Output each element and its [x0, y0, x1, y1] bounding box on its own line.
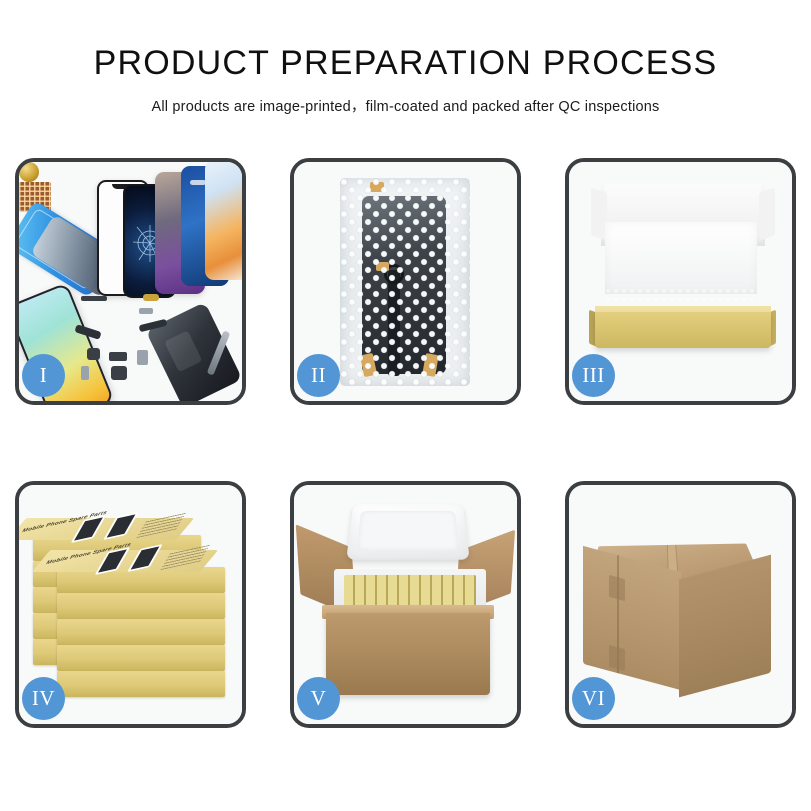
page-subtitle: All products are image-printed，film-coat… — [0, 95, 811, 116]
process-step-grid: I II — [15, 158, 797, 728]
speaker-module-icon — [111, 366, 127, 380]
battery-connector-icon — [81, 366, 89, 380]
step-badge-6: VI — [572, 677, 615, 720]
stacked-box-front-5 — [57, 671, 225, 697]
bubble-wrap-bag-icon — [340, 178, 470, 386]
step-badge-2: II — [297, 354, 340, 397]
phone-back-housing-icon — [145, 302, 242, 401]
small-connector-icon — [139, 308, 153, 314]
box-lid-face: Mobile Phone Spare Parts — [19, 518, 194, 540]
process-step-panel-3: III — [565, 158, 796, 405]
box-front-gold-icon — [595, 312, 771, 348]
step-badge-5: V — [297, 677, 340, 720]
step-badge-4: IV — [22, 677, 65, 720]
header: PRODUCT PREPARATION PROCESS All products… — [0, 0, 811, 116]
carton-right-face-icon — [679, 555, 771, 698]
phone-display-orange-icon — [205, 162, 242, 280]
carton-tab-lower — [609, 645, 625, 671]
stacked-box-front-3 — [57, 619, 225, 645]
foam-lid-icon — [346, 504, 470, 560]
box-screen-image-2 — [103, 512, 139, 540]
process-step-panel-1: I — [15, 158, 246, 405]
stacked-box-front-4 — [57, 645, 225, 671]
gold-connector-icon — [143, 294, 159, 301]
page-title: PRODUCT PREPARATION PROCESS — [0, 44, 811, 83]
camera-module-icon — [87, 348, 100, 360]
carton-tab-upper — [609, 575, 625, 601]
stacked-box-front-1: Mobile Phone Spare Parts — [57, 567, 225, 593]
gold-box-stack-icon: Mobile Phone Spare Parts Mobile Phone Sp… — [33, 515, 233, 705]
vibration-motor-icon — [137, 350, 148, 365]
process-step-panel-6: VI — [565, 481, 796, 728]
carton-body-icon — [326, 613, 490, 695]
connector-strip-icon — [81, 296, 107, 301]
box-spec-lines — [136, 512, 186, 538]
speaker-ring-icon — [19, 162, 39, 182]
step-badge-3: III — [572, 354, 615, 397]
process-step-panel-2: II — [290, 158, 521, 405]
foam-sheet-icon — [605, 222, 757, 294]
box-lid-face: Mobile Phone Spare Parts — [32, 550, 218, 572]
ic-chip-icon — [109, 352, 127, 361]
stacked-box-front-2 — [57, 593, 225, 619]
carton-left-face-icon — [583, 546, 681, 690]
product-preparation-infographic: PRODUCT PREPARATION PROCESS All products… — [0, 0, 811, 811]
process-step-panel-5: V — [290, 481, 521, 728]
bubble-texture-highlight — [340, 178, 470, 386]
process-step-panel-4: Mobile Phone Spare Parts Mobile Phone Sp… — [15, 481, 246, 728]
step-badge-1: I — [22, 354, 65, 397]
